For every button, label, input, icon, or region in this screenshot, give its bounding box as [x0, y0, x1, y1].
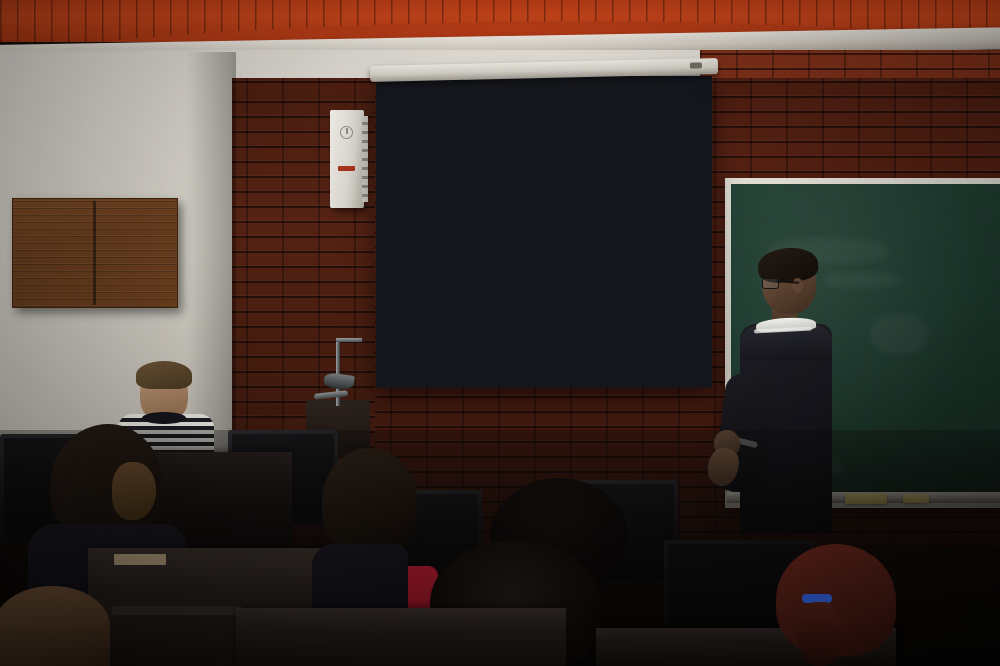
- screen-roller-knob[interactable]: [690, 62, 702, 68]
- student-foreground-head: [0, 586, 110, 666]
- heater-dial-icon: [340, 126, 353, 139]
- chalk-sponge[interactable]: [903, 494, 929, 503]
- faucet-arm: [336, 338, 362, 342]
- presenter: [706, 252, 866, 532]
- presenter-ear: [792, 278, 803, 293]
- computer-desk: [236, 608, 566, 666]
- heater-brand-label: [338, 166, 355, 171]
- sweater-neckline: [142, 412, 186, 424]
- student-hair: [136, 361, 192, 389]
- paper-sheet: [114, 554, 166, 565]
- heater-vent-strip: [362, 116, 368, 202]
- student-head: [0, 586, 110, 666]
- classroom-photo: Šta je Ubuntu? Linux operativni sistem P…: [0, 0, 1000, 666]
- student-face-profile: [112, 462, 156, 520]
- ponytail: [798, 602, 842, 666]
- student-hair: [322, 448, 418, 556]
- chalk-smudge: [871, 314, 927, 354]
- desk-edge-highlight: [112, 606, 242, 615]
- water-heater: [330, 110, 364, 208]
- cabinet-door-seam: [93, 201, 96, 305]
- projector-screen-border: [376, 76, 712, 388]
- student-ponytail: [776, 544, 912, 666]
- wall-cabinet: [12, 198, 178, 308]
